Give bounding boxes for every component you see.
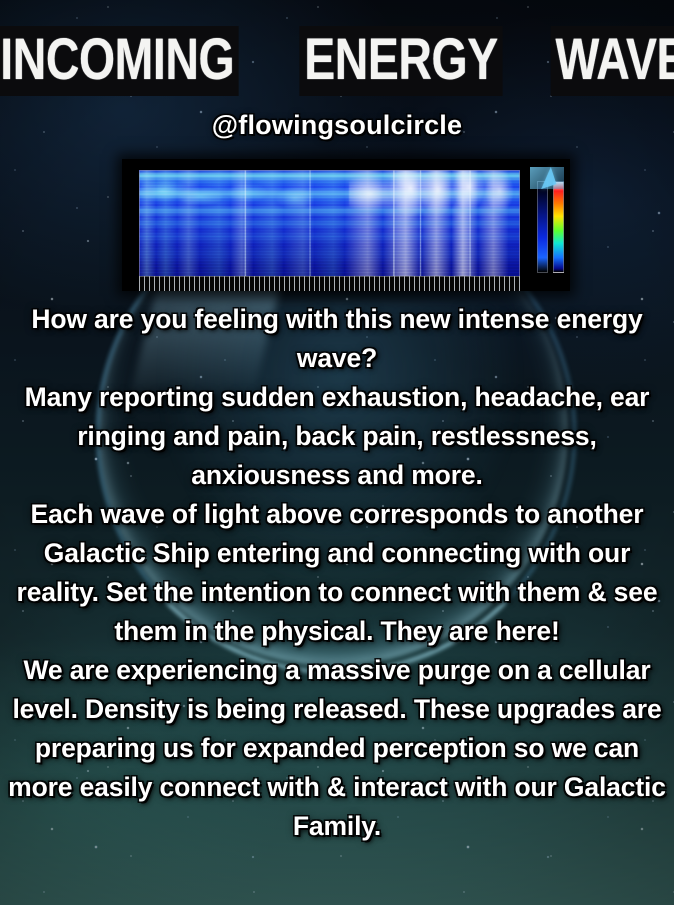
spectrogram-x-axis bbox=[139, 276, 520, 291]
paragraph-2: Many reporting sudden exhaustion, headac… bbox=[4, 378, 670, 495]
title-word-1: INCOMING bbox=[0, 26, 239, 96]
paragraph-1: How are you feeling with this new intens… bbox=[4, 300, 670, 378]
title-word-3: WAVE bbox=[551, 26, 674, 96]
account-handle: @flowingsoulcircle bbox=[0, 110, 674, 141]
paragraph-3: Each wave of light above corresponds to … bbox=[4, 495, 670, 651]
rainbow-intensity-scale-bar bbox=[553, 181, 564, 273]
spectrogram-color-scales bbox=[526, 181, 564, 273]
paragraph-4: We are experiencing a massive purge on a… bbox=[4, 651, 670, 846]
poster-canvas: INCOMING ENERGY WAVE @flowingsoulcircle bbox=[0, 0, 674, 905]
spectrogram-plot-area bbox=[139, 170, 520, 277]
title-word-2: ENERGY bbox=[299, 26, 502, 96]
spectrogram-figure bbox=[122, 159, 570, 291]
spectrogram-striation bbox=[139, 170, 520, 277]
spectrogram-top-labels bbox=[122, 159, 570, 170]
blue-intensity-scale-bar bbox=[537, 181, 548, 273]
page-title: INCOMING ENERGY WAVE bbox=[0, 26, 674, 96]
body-copy: How are you feeling with this new intens… bbox=[0, 300, 674, 846]
